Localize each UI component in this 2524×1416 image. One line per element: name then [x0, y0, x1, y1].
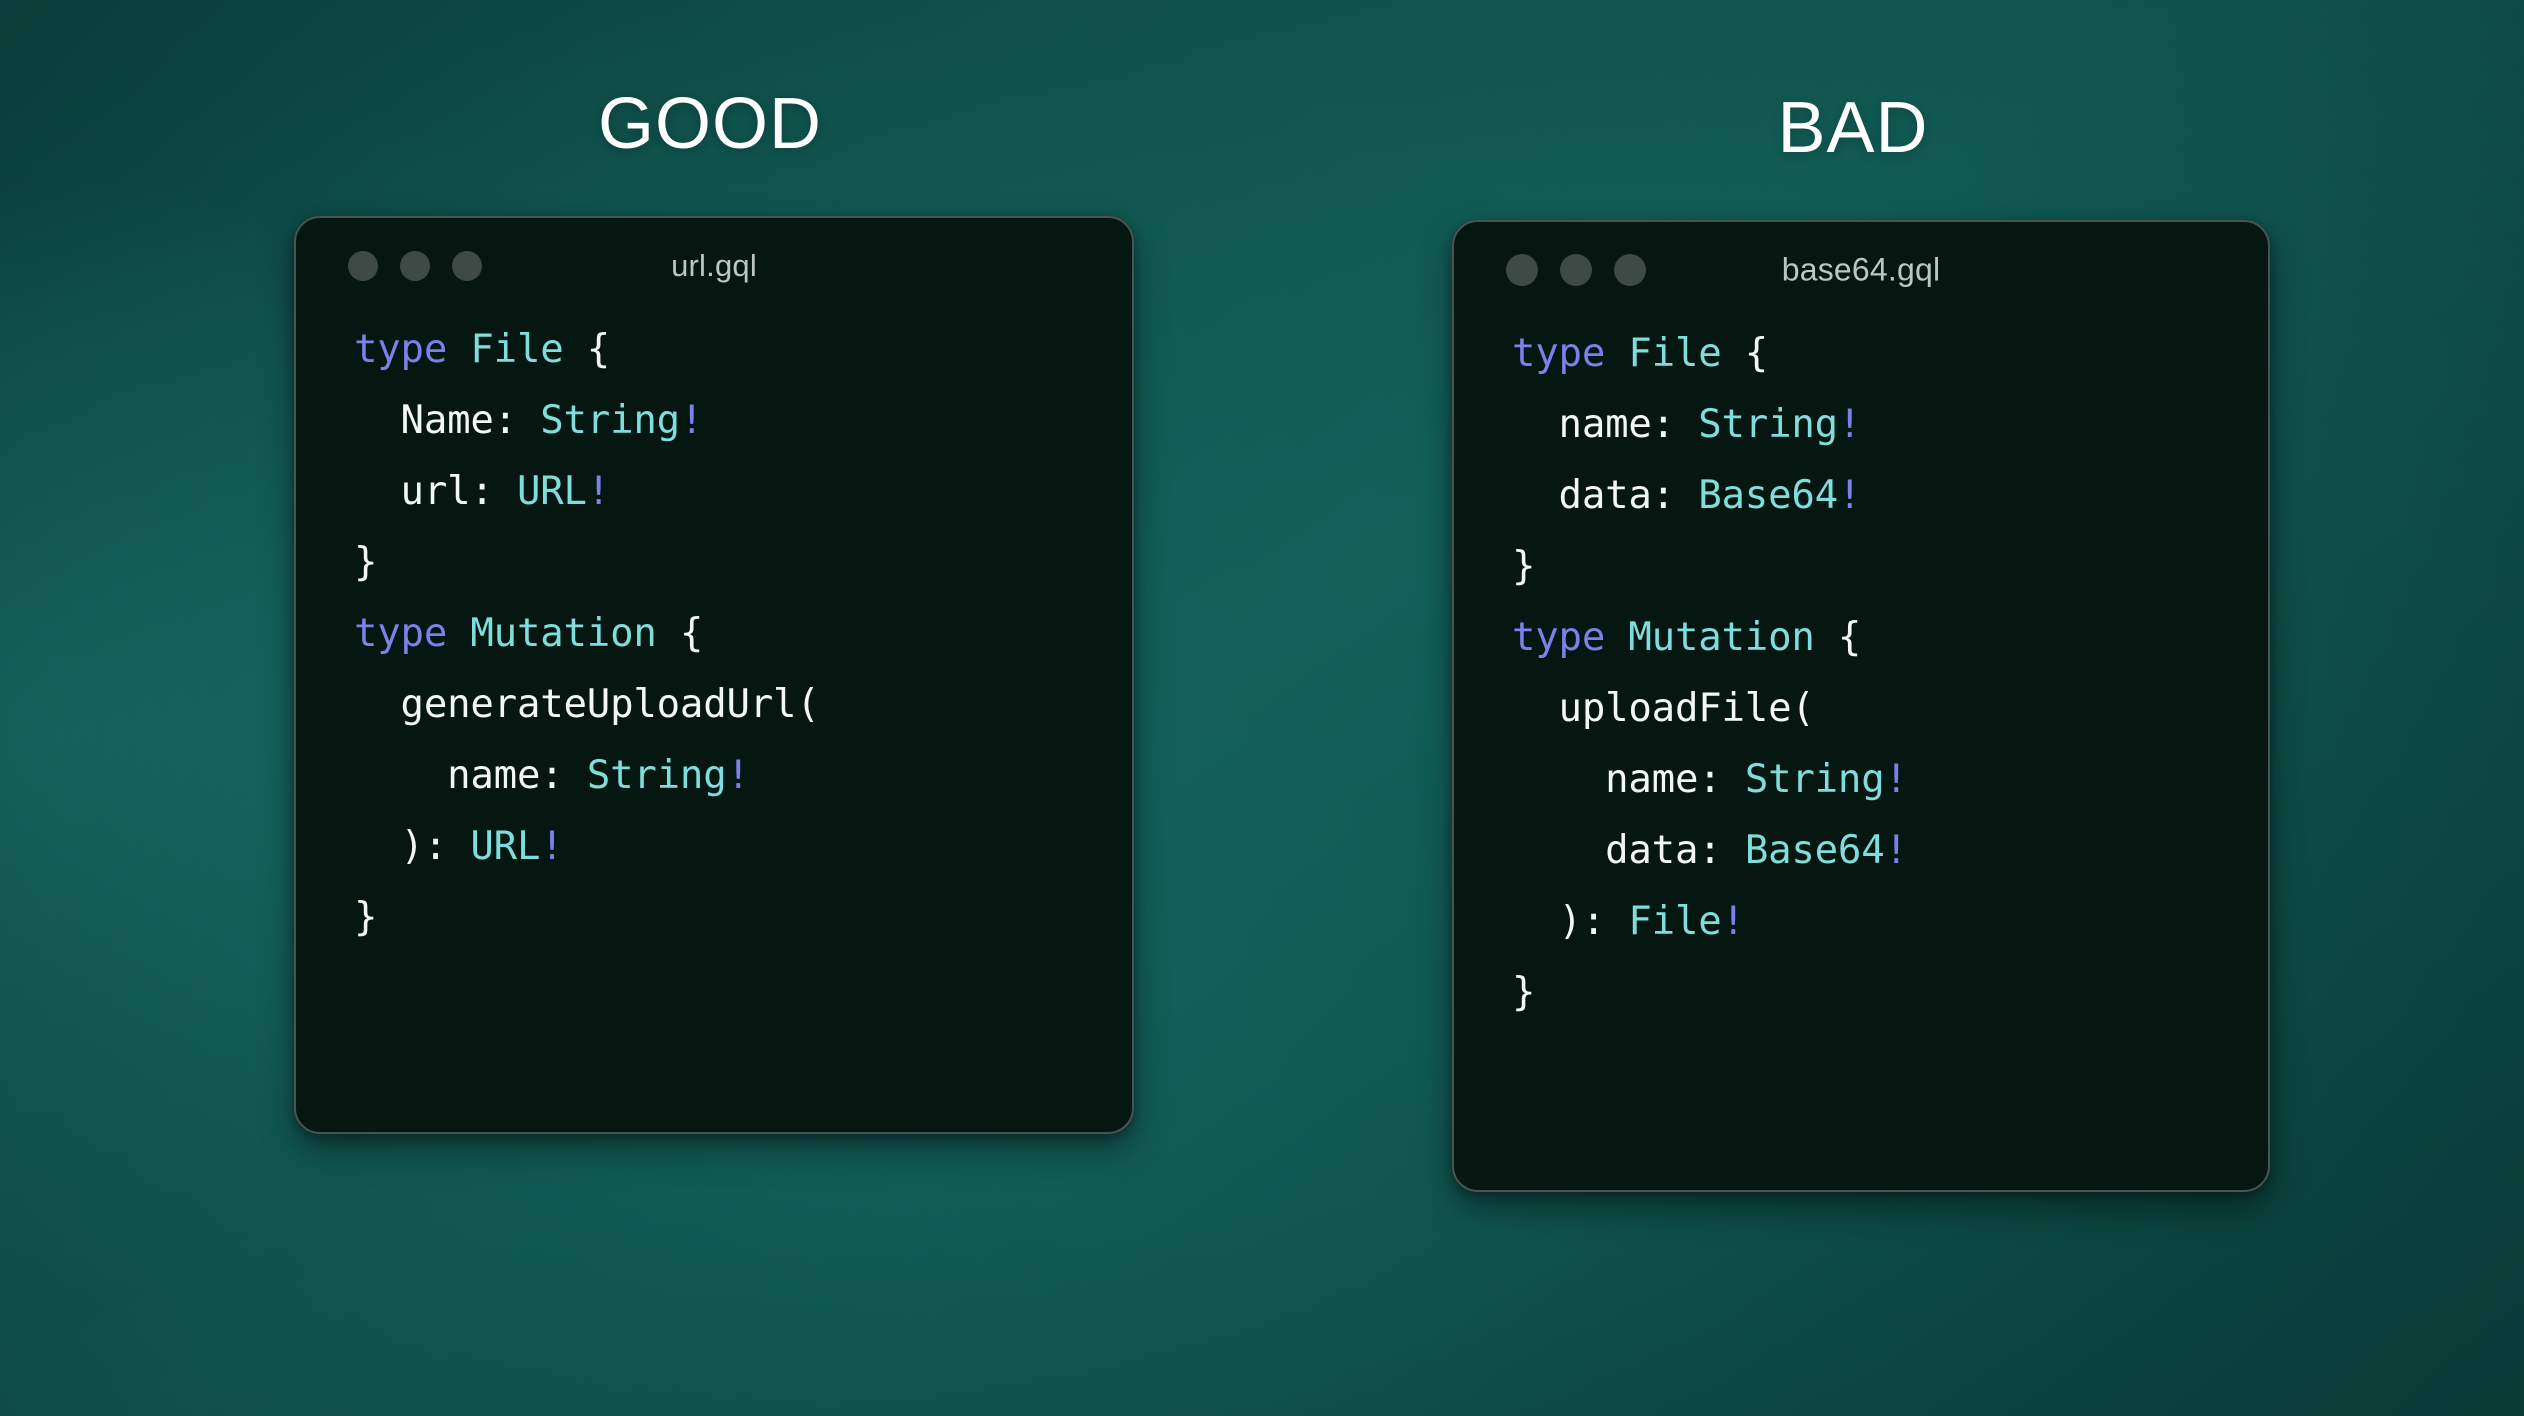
code-token-plain: { — [657, 611, 704, 656]
traffic-lights — [1506, 254, 1646, 286]
code-line: } — [354, 527, 1132, 598]
close-dot-icon[interactable] — [1506, 254, 1538, 286]
panel-title-good: GOOD — [598, 88, 822, 160]
code-token-type: Base64 — [1745, 828, 1885, 873]
code-token-type: String — [1745, 757, 1885, 802]
code-token-type: Base64 — [1698, 473, 1838, 518]
maximize-dot-icon[interactable] — [1614, 254, 1646, 286]
code-token-plain — [447, 611, 470, 656]
code-line: uploadFile( — [1512, 673, 2268, 744]
code-token-plain: Name: — [354, 398, 540, 443]
traffic-lights — [348, 251, 482, 281]
code-token-plain: } — [1512, 544, 1535, 589]
code-token-plain: { — [1722, 331, 1769, 376]
code-token-plain: ): — [354, 824, 470, 869]
code-token-type: File — [1628, 899, 1721, 944]
code-token-kw: type — [1512, 331, 1605, 376]
code-token-type: String — [540, 398, 680, 443]
code-block-bad: type File { name: String! data: Base64!}… — [1454, 318, 2268, 1028]
code-token-plain: data: — [1512, 473, 1698, 518]
code-token-plain: { — [564, 327, 611, 372]
code-line: name: String! — [1512, 744, 2268, 815]
code-token-plain — [1605, 615, 1628, 660]
code-line: } — [1512, 531, 2268, 602]
close-dot-icon[interactable] — [348, 251, 378, 281]
panel-title-bad: BAD — [1777, 92, 1928, 164]
code-line: } — [354, 882, 1132, 953]
code-token-type: String — [1698, 402, 1838, 447]
code-token-plain — [447, 327, 470, 372]
code-line: data: Base64! — [1512, 815, 2268, 886]
code-token-type: URL — [470, 824, 540, 869]
code-token-plain: name: — [354, 753, 587, 798]
code-line: Name: String! — [354, 385, 1132, 456]
code-token-bang: ! — [587, 469, 610, 514]
code-line: ): URL! — [354, 811, 1132, 882]
code-line: generateUploadUrl( — [354, 669, 1132, 740]
code-token-type: Mutation — [470, 611, 656, 656]
code-token-kw: type — [354, 611, 447, 656]
code-token-plain: name: — [1512, 402, 1698, 447]
code-token-bang: ! — [727, 753, 750, 798]
code-token-plain: data: — [1512, 828, 1745, 873]
window-header: url.gql — [296, 218, 1132, 314]
code-token-bang: ! — [1885, 828, 1908, 873]
code-line: } — [1512, 957, 2268, 1028]
code-token-bang: ! — [1885, 757, 1908, 802]
code-token-plain: ): — [1512, 899, 1628, 944]
code-line: type Mutation { — [354, 598, 1132, 669]
code-token-type: URL — [517, 469, 587, 514]
code-token-plain: } — [354, 540, 377, 585]
code-line: ): File! — [1512, 886, 2268, 957]
code-line: type Mutation { — [1512, 602, 2268, 673]
code-token-plain: } — [1512, 970, 1535, 1015]
code-line: name: String! — [354, 740, 1132, 811]
code-token-kw: type — [1512, 615, 1605, 660]
code-token-kw: type — [354, 327, 447, 372]
code-block-good: type File { Name: String! url: URL!}type… — [296, 314, 1132, 953]
code-token-plain: url: — [354, 469, 517, 514]
code-token-plain: name: — [1512, 757, 1745, 802]
code-line: type File { — [1512, 318, 2268, 389]
code-token-bang: ! — [1838, 473, 1861, 518]
code-token-type: String — [587, 753, 727, 798]
maximize-dot-icon[interactable] — [452, 251, 482, 281]
code-token-type: File — [1628, 331, 1721, 376]
code-line: data: Base64! — [1512, 460, 2268, 531]
code-token-bang: ! — [680, 398, 703, 443]
code-token-type: Mutation — [1628, 615, 1814, 660]
code-token-plain: generateUploadUrl( — [354, 682, 820, 727]
code-line: url: URL! — [354, 456, 1132, 527]
code-token-bang: ! — [1722, 899, 1745, 944]
code-line: name: String! — [1512, 389, 2268, 460]
code-token-type: File — [470, 327, 563, 372]
minimize-dot-icon[interactable] — [1560, 254, 1592, 286]
code-token-bang: ! — [1838, 402, 1861, 447]
code-token-bang: ! — [540, 824, 563, 869]
code-window-bad: base64.gql type File { name: String! dat… — [1452, 220, 2270, 1192]
code-line: type File { — [354, 314, 1132, 385]
code-window-good: url.gql type File { Name: String! url: U… — [294, 216, 1134, 1134]
code-token-plain: } — [354, 895, 377, 940]
code-token-plain: { — [1815, 615, 1862, 660]
code-token-plain: uploadFile( — [1512, 686, 1815, 731]
minimize-dot-icon[interactable] — [400, 251, 430, 281]
code-token-plain — [1605, 331, 1628, 376]
window-header: base64.gql — [1454, 222, 2268, 318]
